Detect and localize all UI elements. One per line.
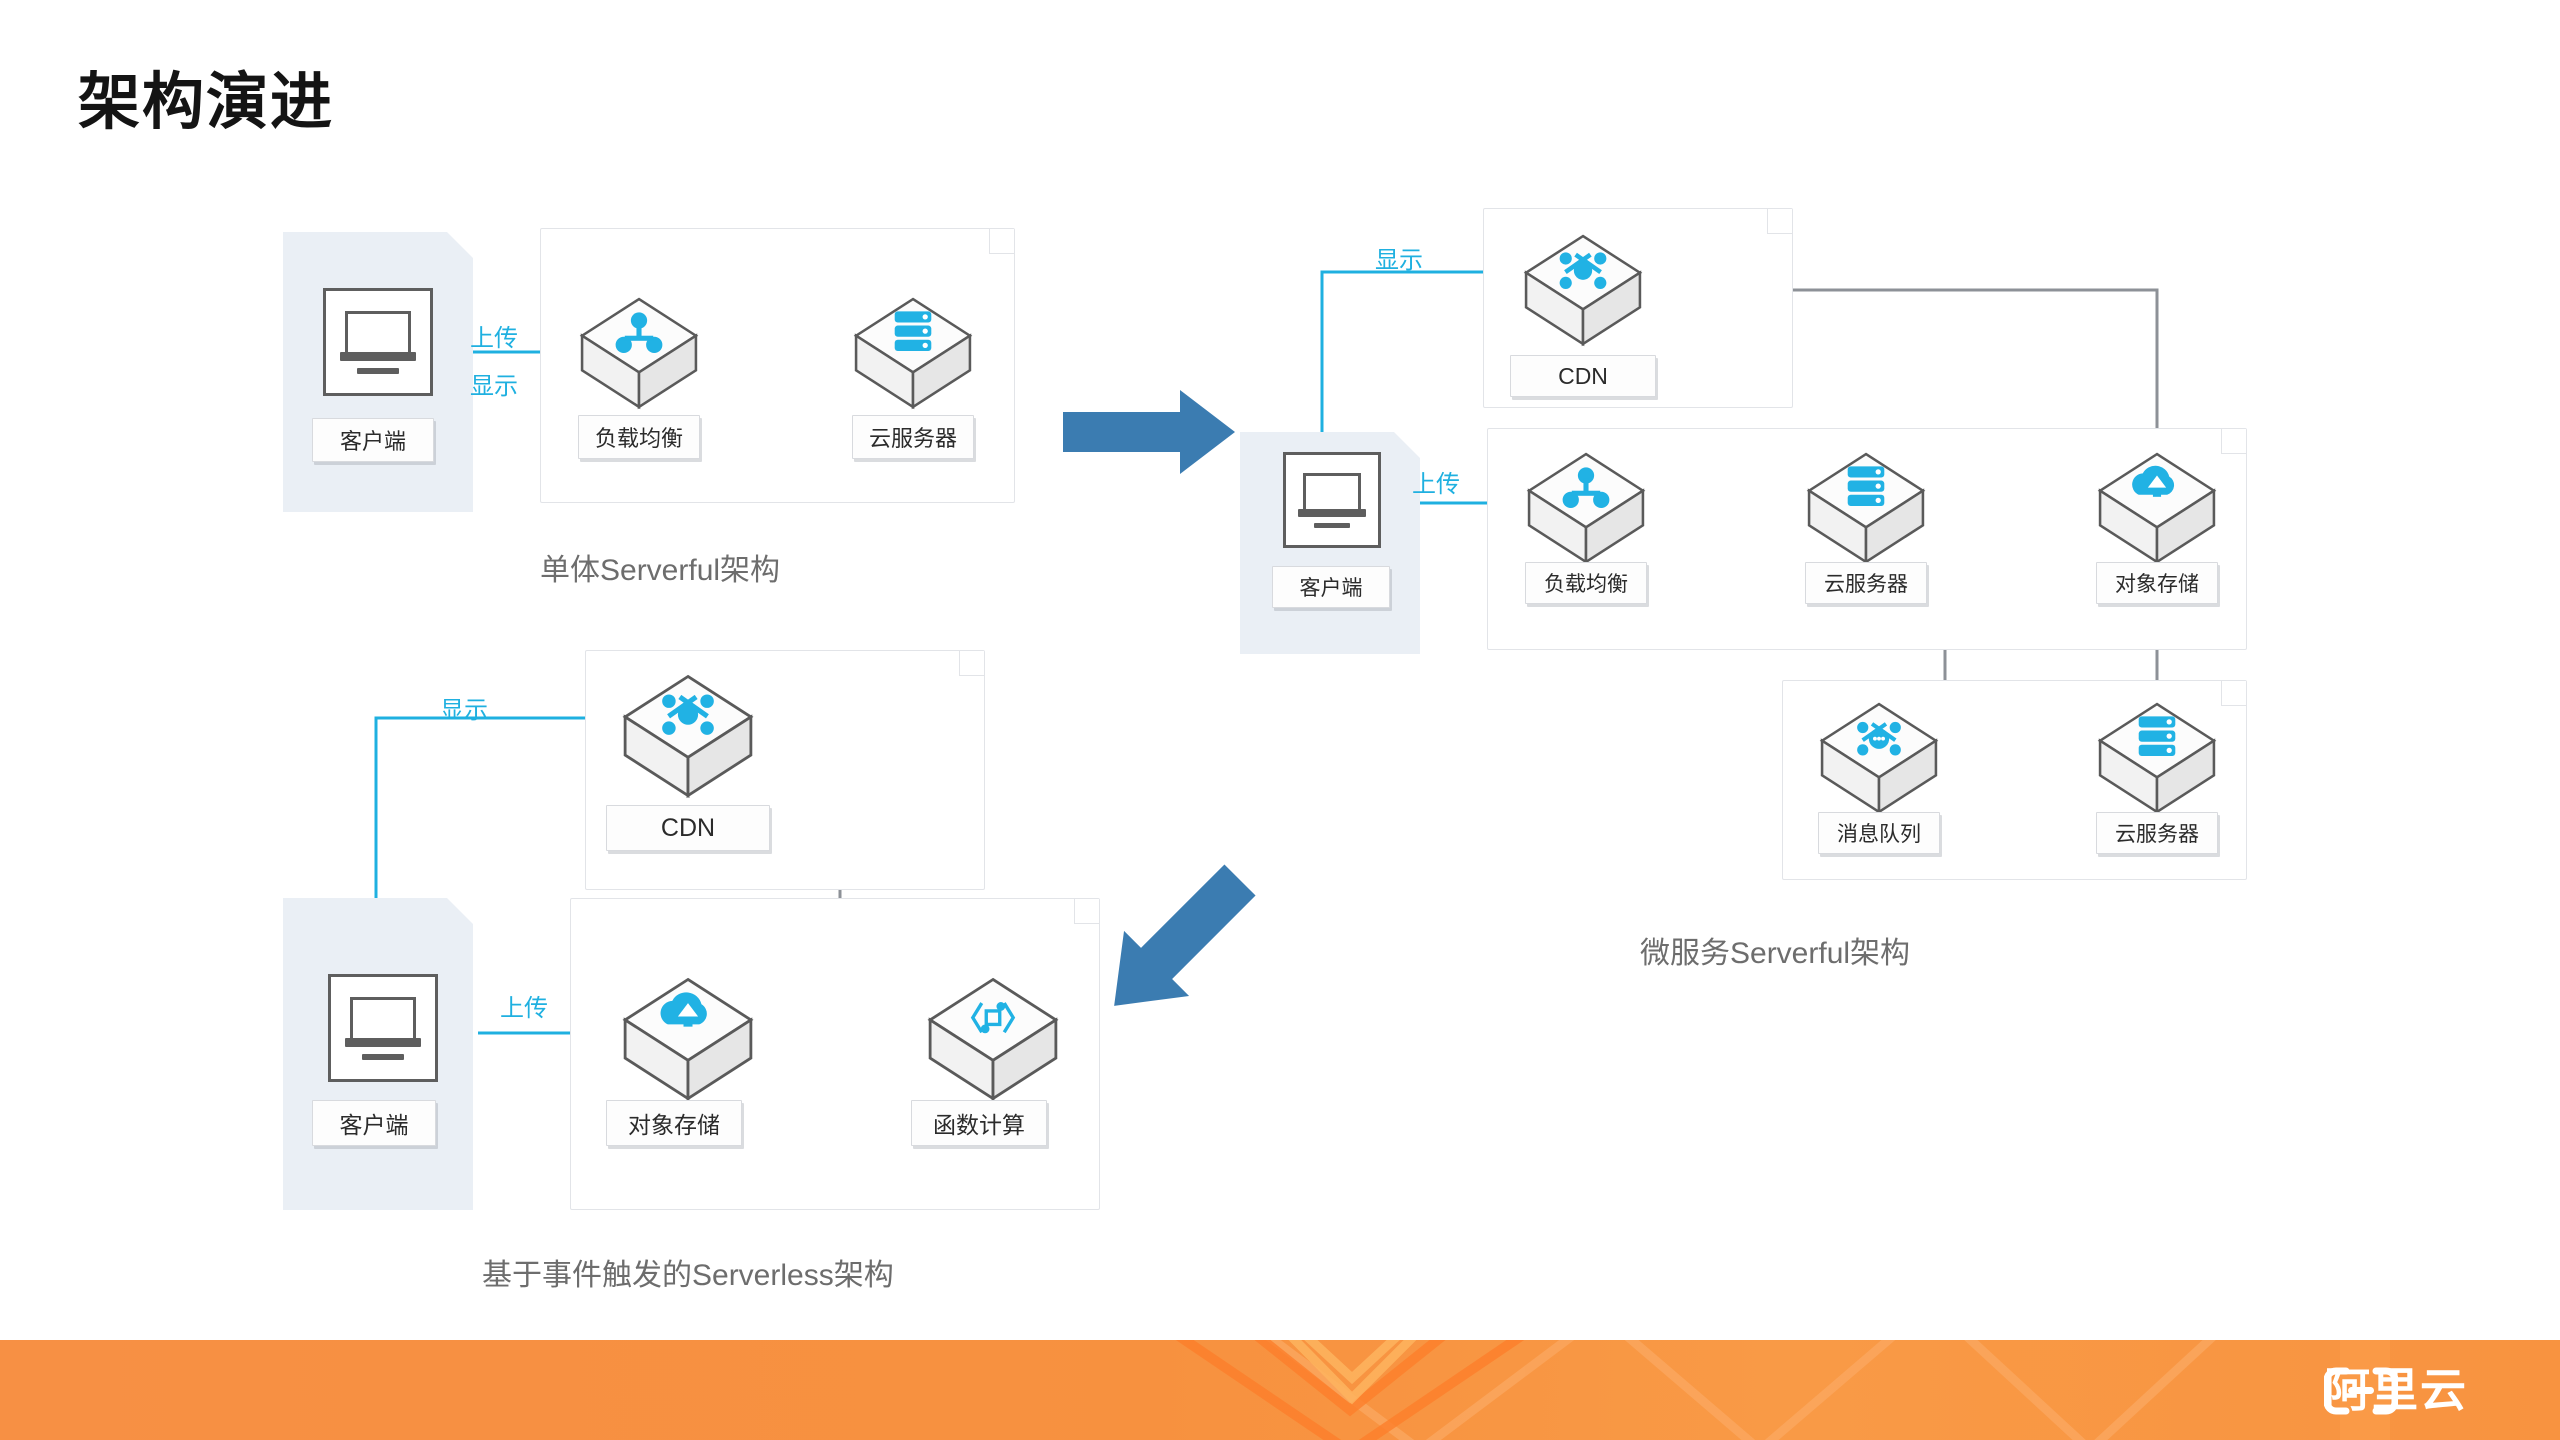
node-label-client-3: 客户端 [312,1100,436,1146]
object-storage-icon [2096,450,2218,566]
alibaba-cloud-bracket-icon [2324,1367,2398,1415]
node-label-load-balancer-1: 负载均衡 [578,415,700,459]
caption-monolithic: 单体Serverful架构 [540,545,780,589]
node-label-cloud-server-2: 云服务器 [1805,562,1927,604]
panel-corner-icon [989,229,1014,254]
message-queue-icon [1818,700,1940,816]
panel-corner-icon [2221,429,2246,454]
panel-fold-icon [447,898,473,924]
node-label-client-1: 客户端 [312,418,434,462]
object-storage-icon [620,975,756,1103]
monitor-icon [1283,452,1381,548]
caption-microservices: 微服务Serverful架构 [1640,928,1910,972]
edge-label-display-3: 显示 [440,690,488,725]
panel-corner-icon [1074,899,1099,924]
edge-label-display-2: 显示 [1375,240,1423,275]
node-label-client-2: 客户端 [1272,566,1390,608]
node-label-object-storage-2: 对象存储 [2096,562,2218,604]
monitor-icon [328,974,438,1082]
node-label-object-storage-3: 对象存储 [606,1100,742,1146]
alibaba-cloud-logo: 阿里云 [2324,1367,2468,1413]
edge-label-display-1: 显示 [470,366,518,401]
edge-label-upload-1: 上传 [470,318,518,353]
panel-corner-icon [959,651,984,676]
node-label-message-queue-2: 消息队列 [1818,812,1940,854]
node-label-cloud-server-3: 云服务器 [2096,812,2218,854]
cdn-icon [1522,232,1644,348]
cloud-server-icon [1805,450,1927,566]
node-label-cloud-server-1: 云服务器 [852,415,974,459]
footer-pattern-icon [0,1340,2560,1440]
cloud-server-icon [852,295,974,411]
node-label-cdn-3: CDN [606,805,770,851]
page-title: 架构演进 [78,72,334,134]
footer-bar: 阿里云 [0,1340,2560,1440]
cdn-icon [620,672,756,800]
panel-corner-icon [1767,209,1792,234]
cloud-server-icon [2096,700,2218,816]
panel-fold-icon [1394,432,1420,458]
load-balancer-icon [1525,450,1647,566]
edge-label-upload-2: 上传 [1412,464,1460,499]
node-label-function-compute-3: 函数计算 [911,1100,1047,1146]
node-label-cdn-2: CDN [1510,355,1656,397]
function-compute-icon [925,975,1061,1103]
edge-label-upload-3: 上传 [500,988,548,1023]
caption-serverless: 基于事件触发的Serverless架构 [482,1250,894,1294]
panel-corner-icon [2221,681,2246,706]
load-balancer-icon [578,295,700,411]
node-label-load-balancer-2: 负载均衡 [1525,562,1647,604]
monitor-icon [323,288,433,396]
panel-fold-icon [447,232,473,258]
